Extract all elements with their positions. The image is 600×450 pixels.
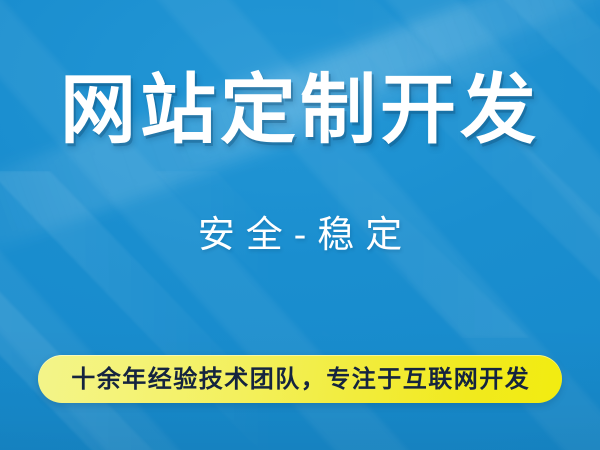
poster-headline: 网站定制开发 [0,72,600,148]
tagline-badge: 十余年经验技术团队，专注于互联网开发 [38,355,562,403]
promo-banner: 网站定制开发 安全-稳定 十余年经验技术团队，专注于互联网开发 [0,0,600,450]
poster-content: 网站定制开发 安全-稳定 十余年经验技术团队，专注于互联网开发 [0,0,600,450]
poster-subheadline: 安全-稳定 [0,216,600,253]
tagline-badge-label: 十余年经验技术团队，专注于互联网开发 [70,367,531,391]
